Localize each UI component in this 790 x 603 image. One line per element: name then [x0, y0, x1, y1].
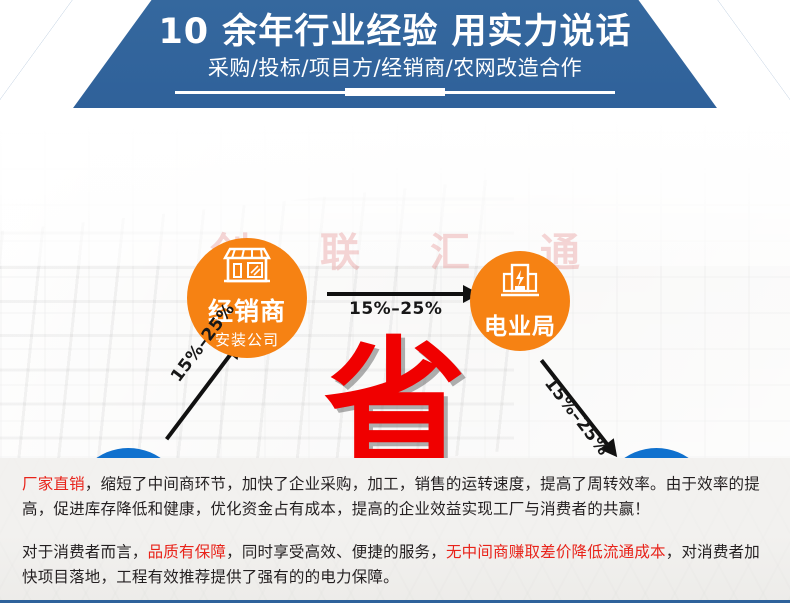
banner-divider-right	[445, 91, 615, 94]
shop-icon	[221, 246, 273, 288]
banner-divider-left	[175, 91, 345, 94]
footer-paragraph-1: 厂家直销，缩短了中间商环节，加快了企业采购，加工，销售的运转速度，提高了周转效率…	[22, 472, 768, 522]
node-dealer-sublabel: 安装公司	[215, 329, 279, 350]
center-save-glyph: 省	[0, 336, 790, 458]
footer-p2-part2: ，同时享受高效、便捷的服务，	[226, 543, 446, 561]
footer-p2-highlight-1: 品质有保障	[148, 543, 227, 561]
banner-divider	[0, 88, 790, 96]
footer-p1-rest: ，缩短了中间商环节，加快了企业采购，加工，销售的运转速度，提高了周转效率。由于效…	[22, 475, 760, 518]
header-banner: 10 余年行业经验 用实力说话 采购/投标/项目方/经销商/农网改造合作	[0, 0, 790, 108]
arrow-label-dealer-to-bureau: 15%–25%	[349, 299, 442, 319]
banner-title: 10 余年行业经验 用实力说话	[0, 11, 790, 53]
banner-subtitle: 采购/投标/项目方/经销商/农网改造合作	[0, 53, 790, 83]
power-building-icon	[499, 262, 541, 304]
footer-description: 厂家直销，缩短了中间商环节，加快了企业采购，加工，销售的运转速度，提高了周转效率…	[0, 458, 790, 603]
supply-chain-diagram: 创 联 汇 通 省 15%–25% 15%–25% 15%–25% 在这里省了中…	[0, 108, 790, 458]
footer-paragraph-2: 对于消费者而言，品质有保障，同时享受高效、便捷的服务，无中间商赚取差价降低流通成…	[22, 540, 768, 590]
banner-content: 10 余年行业经验 用实力说话 采购/投标/项目方/经销商/农网改造合作	[0, 0, 790, 83]
arrow-shaft	[327, 292, 467, 296]
node-bureau[interactable]: 电业局	[470, 251, 570, 351]
banner-divider-center	[345, 88, 445, 96]
watermark-text: 创 联 汇 通	[0, 220, 790, 278]
node-bureau-label: 电业局	[484, 307, 556, 341]
page-root: 10 余年行业经验 用实力说话 采购/投标/项目方/经销商/农网改造合作 创 联…	[0, 0, 790, 603]
footer-p2-highlight-2: 无中间商赚取差价降低流通成本	[446, 543, 666, 561]
footer-p2-part1: 对于消费者而言，	[22, 543, 148, 561]
footer-p1-highlight: 厂家直销	[22, 475, 85, 493]
